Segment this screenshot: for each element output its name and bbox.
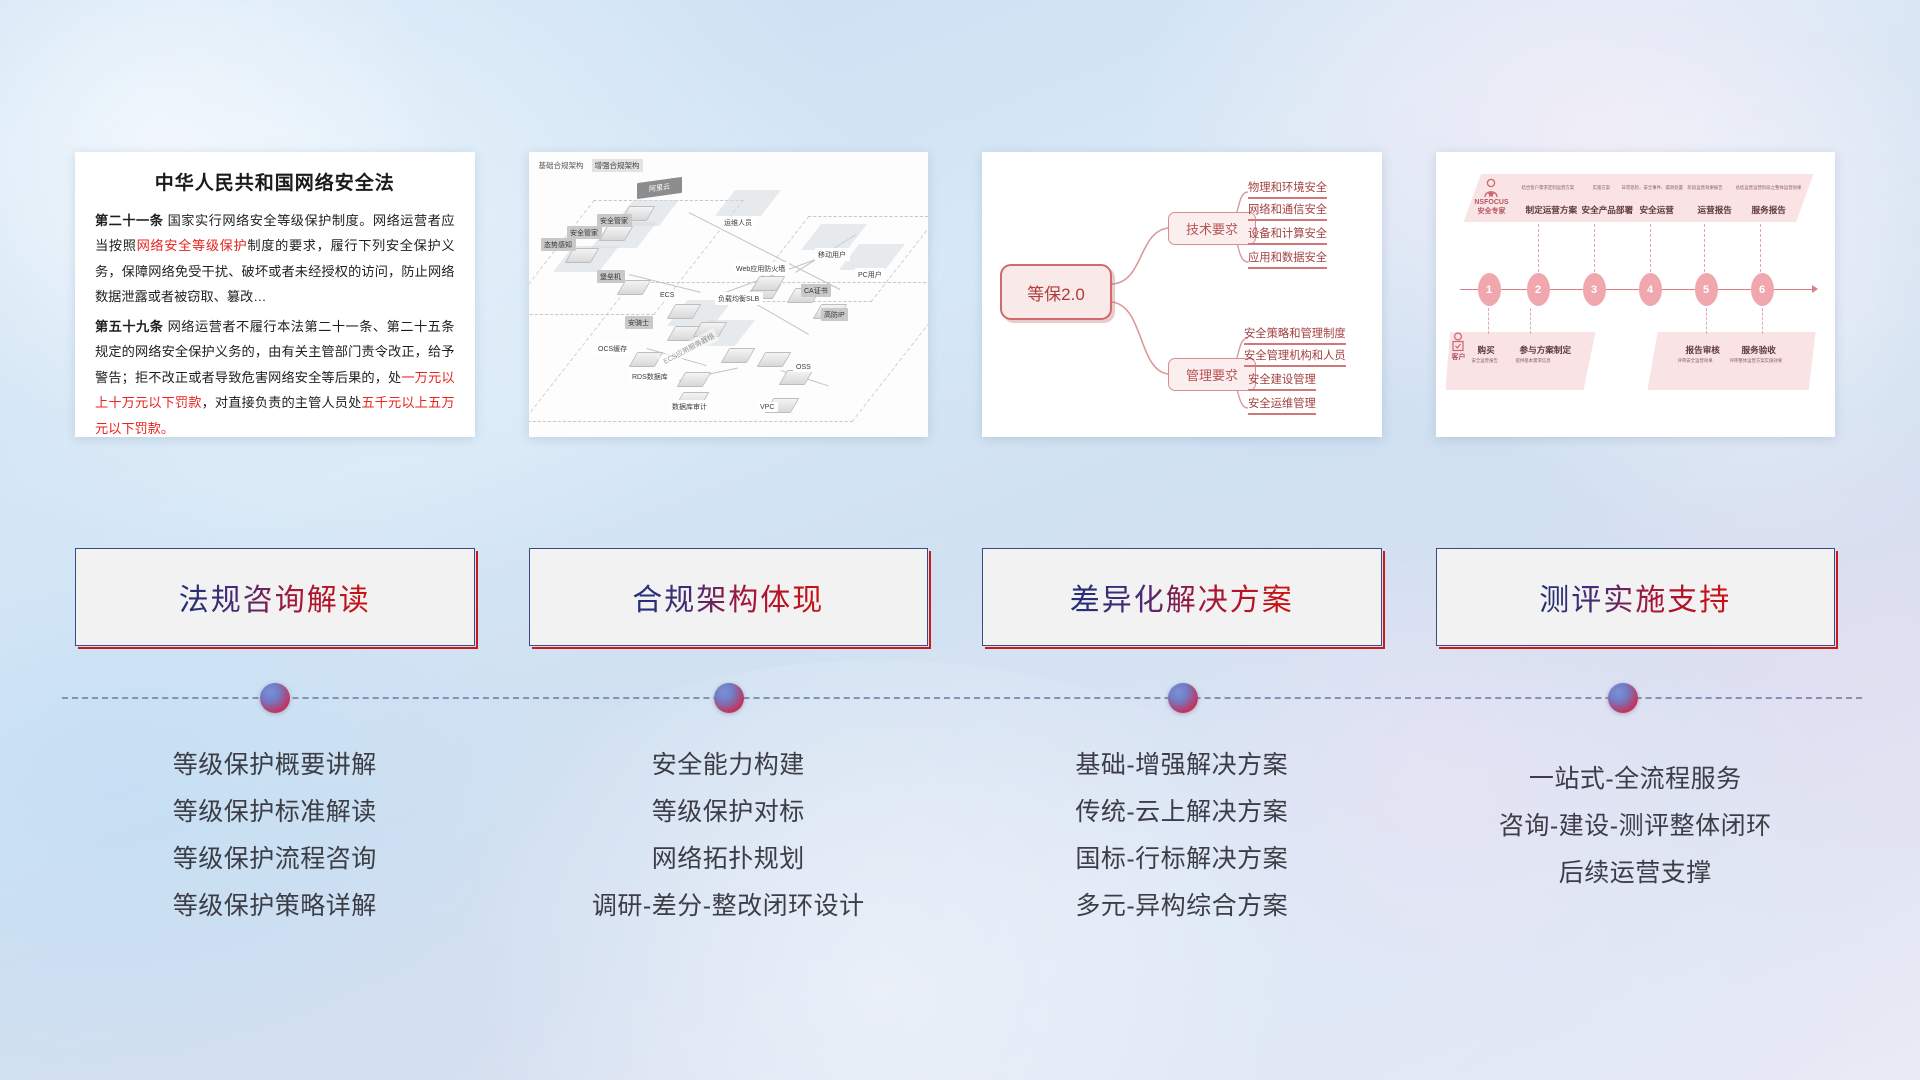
roadmap-diagram: NSFOCUS 安全专家 制定运营方案 结合客户需求定制运营方案 安全产品部署 …	[1436, 152, 1836, 437]
roadmap-tick-b6	[1762, 308, 1763, 334]
law-text-59-b: ，对直接负责的主管人员处	[202, 395, 362, 410]
customer-avatar-icon	[1450, 332, 1466, 352]
list-item: 基础-增强解决方案	[1075, 742, 1288, 789]
roadmap-bottom-label-0: 购买	[1478, 344, 1495, 356]
list-item: 调研-差分-整改闭环设计	[592, 883, 865, 930]
plate-d	[714, 190, 780, 216]
section-title-box-1[interactable]: 合规架构体现	[529, 548, 929, 646]
node-situational-awareness: 态势感知	[541, 238, 576, 251]
node-database-audit: 数据库审计	[669, 400, 711, 413]
roadmap-top-sub-2: 日常巡检、安全事件、漏洞处置	[1622, 185, 1683, 191]
section-items-row: 等级保护概要讲解 等级保护标准解读 等级保护流程咨询 等级保护策略详解 安全能力…	[75, 742, 1835, 972]
mindmap-dot-technical	[1229, 225, 1235, 231]
expert-avatar-icon	[1482, 178, 1500, 198]
roadmap-bottom-sub-0: 安全运营报告	[1472, 358, 1498, 364]
timeline-dot-2[interactable]	[1168, 683, 1198, 713]
roadmap-top-label-3: 运营报告	[1698, 204, 1732, 216]
section-title-box-0[interactable]: 法规咨询解读	[75, 548, 475, 646]
section-items-col-0: 等级保护概要讲解 等级保护标准解读 等级保护流程咨询 等级保护策略详解	[75, 742, 475, 972]
section-title-text-2: 差异化解决方案	[1070, 575, 1294, 619]
mindmap-branch-technical: 技术要求	[1168, 212, 1256, 245]
list-item: 多元-异构综合方案	[1075, 883, 1288, 930]
section-items-col-2: 基础-增强解决方案 传统-云上解决方案 国标-行标解决方案 多元-异构综合方案	[982, 742, 1382, 972]
roadmap-customer-role: 客户	[1450, 354, 1468, 363]
mindmap-leaf-mgmt-3: 安全运维管理	[1248, 397, 1316, 415]
node-pc-user: PC用户	[855, 268, 886, 281]
mindmap-leaf-mgmt-0: 安全策略和管理制度	[1244, 327, 1346, 345]
section-title-box-3[interactable]: 测评实施支持	[1436, 548, 1836, 646]
node-anqishi: 安骑士	[625, 316, 653, 329]
roadmap-tick-b1	[1488, 308, 1489, 334]
roadmap-tick-b2	[1530, 308, 1531, 334]
roadmap-top-label-0: 制定运营方案	[1526, 204, 1578, 216]
card-dengbao-mindmap: 等保2.0 技术要求 管理要求 物理和环境安全 网络和通信安全 设备和计算安全 …	[982, 152, 1382, 437]
mindmap-dot-management	[1229, 371, 1235, 377]
slide-canvas: 中华人民共和国网络安全法 第二十一条 国家实行网络安全等级保护制度。网络运营者应…	[0, 0, 1920, 1080]
roadmap-tick-3	[1594, 224, 1595, 272]
node-ops-personnel: 运维人员	[721, 216, 756, 229]
cloud-provider-badge: 阿里云	[637, 177, 682, 199]
roadmap-bottom-sub-3: 评审整体运营方案实施效果	[1730, 358, 1783, 364]
roadmap-bottom-label-2: 报告审核	[1686, 344, 1720, 356]
architecture-legend: 基础合规架构 增强合规架构	[539, 159, 643, 172]
timeline-dot-3[interactable]	[1608, 683, 1638, 713]
roadmap-top-sub-1: 实施方案	[1593, 185, 1611, 191]
law-title: 中华人民共和国网络安全法	[95, 168, 455, 195]
list-item: 等级保护策略详解	[173, 883, 377, 930]
timeline-dot-1[interactable]	[714, 683, 744, 713]
roadmap-top-sub-4: 总结运营运营阶段之整体运营效果	[1736, 185, 1802, 191]
roadmap-tick-b5	[1706, 308, 1707, 334]
list-item: 国标-行标解决方案	[1075, 836, 1288, 883]
node-ecs: ECS	[657, 290, 678, 300]
roadmap-bottom-sub-1: 提供基本需求信息	[1516, 358, 1551, 364]
law-article-number-59: 第五十九条	[95, 319, 163, 334]
roadmap-tick-4	[1650, 224, 1651, 272]
mindmap-leaf-tech-2: 设备和计算安全	[1248, 227, 1327, 245]
section-title-text-1: 合规架构体现	[632, 575, 824, 619]
roadmap-top-label-4: 服务报告	[1752, 204, 1786, 216]
node-slb: 负载均衡SLB	[715, 292, 763, 305]
card-cloud-architecture: 基础合规架构 增强合规架构	[529, 152, 929, 437]
list-item: 等级保护对标	[652, 789, 805, 836]
mindmap: 等保2.0 技术要求 管理要求 物理和环境安全 网络和通信安全 设备和计算安全 …	[982, 152, 1382, 437]
roadmap-bottom-sub-2: 评审安全运营效果	[1678, 358, 1713, 364]
node-ocs-cache: OCS缓存	[595, 342, 631, 355]
roadmap-provider-name: NSFOCUS 安全专家	[1464, 199, 1520, 217]
law-paragraph-59: 第五十九条 网络运营者不履行本法第二十一条、第二十五条规定的网络安全保护义务的，…	[95, 314, 455, 437]
roadmap-top-sub-3: 阶段运营效果报告	[1688, 185, 1723, 191]
card-cybersecurity-law: 中华人民共和国网络安全法 第二十一条 国家实行网络安全等级保护制度。网络运营者应…	[75, 152, 475, 437]
list-item: 等级保护流程咨询	[173, 836, 377, 883]
law-article-number-21: 第二十一条	[95, 213, 163, 228]
legend-basic: 基础合规架构	[539, 160, 584, 171]
section-title-text-3: 测评实施支持	[1539, 575, 1731, 619]
list-item: 后续运营支撑	[1559, 850, 1712, 897]
section-title-text-0: 法规咨询解读	[179, 575, 371, 619]
mindmap-leaf-tech-3: 应用和数据安全	[1248, 251, 1327, 269]
roadmap-node-6: 6	[1751, 273, 1774, 306]
mindmap-leaf-tech-0: 物理和环境安全	[1248, 181, 1327, 199]
list-item: 传统-云上解决方案	[1075, 789, 1288, 836]
roadmap-top-label-1: 安全产品部署	[1582, 204, 1634, 216]
node-security-steward-2: 安全管家	[567, 226, 602, 239]
list-item: 咨询-建设-测评整体闭环	[1499, 803, 1772, 850]
roadmap-bottom-label-3: 服务验收	[1742, 344, 1776, 356]
list-item: 等级保护概要讲解	[173, 742, 377, 789]
roadmap-tick-6	[1760, 224, 1761, 272]
node-mobile-user: 移动用户	[815, 248, 850, 261]
roadmap-top-sub-0: 结合客户需求定制运营方案	[1522, 185, 1575, 191]
section-title-box-2[interactable]: 差异化解决方案	[982, 548, 1382, 646]
mindmap-branch-management: 管理要求	[1168, 358, 1256, 391]
section-titles-row: 法规咨询解读 合规架构体现 差异化解决方案 测评实施支持	[75, 548, 1835, 648]
list-item: 一站式-全流程服务	[1529, 756, 1742, 803]
timeline-axis	[62, 697, 1862, 699]
list-item: 安全能力构建	[652, 742, 805, 789]
node-security-steward: 安全管家	[597, 214, 632, 227]
roadmap-node-1: 1	[1478, 273, 1501, 306]
law-highlight-21: 网络安全等级保护	[137, 238, 248, 253]
list-item: 网络拓扑规划	[652, 836, 805, 883]
roadmap-node-3: 3	[1583, 273, 1606, 306]
node-anti-ddos-ip: 高防IP	[821, 308, 849, 321]
roadmap-tick-5	[1704, 224, 1705, 272]
roadmap-top-label-2: 安全运营	[1640, 204, 1674, 216]
roadmap-axis-arrow	[1812, 285, 1818, 293]
node-ca-certificate: CA证书	[801, 284, 832, 297]
roadmap-tick-2	[1538, 224, 1539, 272]
card-nsfocus-roadmap: NSFOCUS 安全专家 制定运营方案 结合客户需求定制运营方案 安全产品部署 …	[1436, 152, 1836, 437]
section-items-col-3: 一站式-全流程服务 咨询-建设-测评整体闭环 后续运营支撑	[1436, 742, 1836, 972]
legend-enhanced: 增强合规架构	[592, 159, 643, 172]
mindmap-leaf-mgmt-1: 安全管理机构和人员	[1244, 349, 1346, 367]
roadmap-node-5: 5	[1695, 273, 1718, 306]
node-vpc: VPC	[757, 402, 778, 412]
node-rds-database: RDS数据库	[629, 370, 672, 383]
section-items-col-1: 安全能力构建 等级保护对标 网络拓扑规划 调研-差分-整改闭环设计	[529, 742, 929, 972]
list-item: 等级保护标准解读	[173, 789, 377, 836]
law-card-body: 中华人民共和国网络安全法 第二十一条 国家实行网络安全等级保护制度。网络运营者应…	[75, 152, 475, 437]
architecture-diagram: 基础合规架构 增强合规架构	[529, 152, 929, 437]
node-bastion-host: 堡垒机	[597, 270, 625, 283]
node-oss: OSS	[793, 362, 815, 372]
roadmap-node-4: 4	[1639, 273, 1662, 306]
mindmap-leaf-tech-1: 网络和通信安全	[1248, 203, 1327, 221]
roadmap-node-2: 2	[1527, 273, 1550, 306]
timeline-dot-0[interactable]	[260, 683, 290, 713]
law-paragraph-21: 第二十一条 国家实行网络安全等级保护制度。网络运营者应当按照网络安全等级保护制度…	[95, 208, 455, 310]
illustration-cards-row: 中华人民共和国网络安全法 第二十一条 国家实行网络安全等级保护制度。网络运营者应…	[75, 152, 1835, 442]
mindmap-leaf-mgmt-2: 安全建设管理	[1248, 373, 1316, 391]
roadmap-bottom-label-1: 参与方案制定	[1520, 344, 1572, 356]
mindmap-root: 等保2.0	[1000, 264, 1112, 320]
node-waf: Web应用防火墙	[733, 262, 789, 275]
